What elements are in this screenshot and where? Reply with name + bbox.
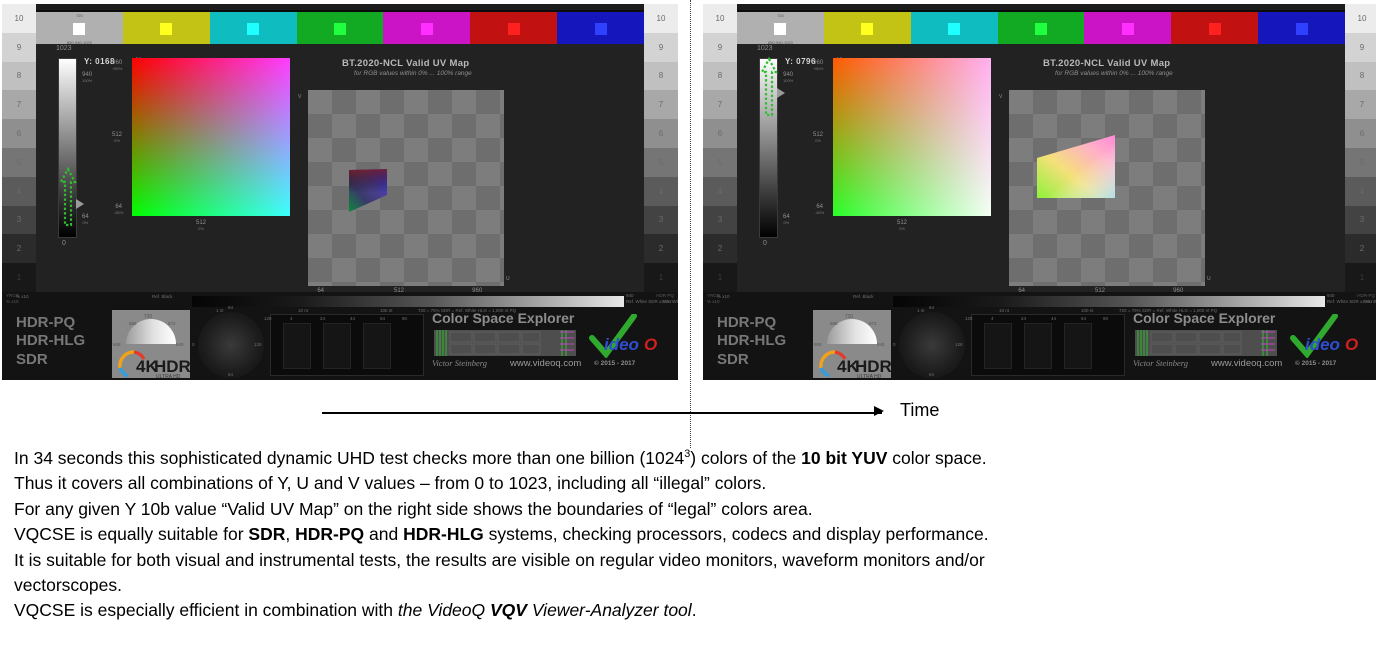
side-ramp-step: 5 [1345, 148, 1376, 177]
waveform-bar [283, 323, 311, 369]
line7-part-a: VQCSE is especially efficient in combina… [14, 600, 398, 620]
side-ramp-label: 8 [1360, 71, 1364, 80]
color-bar-patch [247, 23, 259, 35]
side-ramp-step: 4 [703, 177, 737, 206]
paragraph-line-5: It is suitable for both visual and instr… [14, 548, 1362, 573]
side-ramp-step: 6 [2, 119, 36, 148]
side-ramp-step: 10 [644, 4, 678, 33]
line7-bold-italic-vqv: VQV [490, 600, 527, 620]
side-ramp-step: 4 [1345, 177, 1376, 206]
nit-tick-100: 100 nt [1081, 308, 1094, 313]
color-bar-yellow [824, 12, 911, 46]
uv-plane-left [132, 58, 290, 216]
color-bar-green [998, 12, 1085, 46]
y-ramp-tick: 940100% [82, 72, 92, 83]
uv-map-v-letter: V [999, 94, 1002, 100]
nit-tick-10: 10 nt [298, 308, 308, 313]
slide-root: 10 9 8 7 6 5 4 3 2 1 10 9 8 7 6 5 4 3 2 … [0, 0, 1376, 660]
line7-period: . [692, 600, 697, 620]
waveform-tick: 44 [350, 316, 355, 321]
vectorscope-tick-right: 128 [254, 342, 262, 347]
ref-white-value: 940 [1327, 293, 1335, 298]
side-ramp-label: 5 [17, 158, 21, 167]
side-ramp-label: 10 [716, 14, 725, 23]
side-ramp-step: 6 [1345, 119, 1376, 148]
side-ramp-label: 9 [1360, 43, 1364, 52]
side-ramp-label: 8 [718, 71, 722, 80]
side-ramp-label: 3 [17, 215, 21, 224]
side-ramp-step: 3 [1345, 206, 1376, 235]
tick-pct: 0% [196, 226, 206, 231]
svg-text:872: 872 [869, 321, 877, 326]
svg-text:508: 508 [113, 342, 121, 347]
side-ramp-label: 4 [659, 187, 663, 196]
side-ramp-step: 9 [1345, 33, 1376, 62]
hdr-mode-sdr: SDR [717, 351, 786, 369]
uv-v-tick: 960+80% [112, 60, 122, 71]
vectorscope-tick-bottom: 64 [929, 372, 934, 377]
color-bar-patch [508, 23, 520, 35]
side-ramp-label: 9 [17, 43, 21, 52]
corner-label-yrgb: YRGB [6, 293, 19, 298]
side-ramp-step: 2 [703, 234, 737, 263]
svg-text:ULTRA HD: ULTRA HD [156, 374, 181, 378]
cse-website-link[interactable]: www.videoq.com [510, 358, 581, 369]
side-ramp-label: 1 [1360, 273, 1364, 282]
color-bar-patch [1035, 23, 1047, 35]
side-ramp-step: 8 [2, 62, 36, 91]
waveform-tick: 80 [402, 316, 407, 321]
hdr-mode-list: HDR-PQ HDR-HLG SDR [16, 314, 85, 369]
cse-grid-svg [1135, 330, 1277, 356]
cse-website-link[interactable]: www.videoq.com [1211, 358, 1282, 369]
side-ramp-label: 3 [1360, 215, 1364, 224]
4k-hdr-logo-panel: 720 566 872 508 940 4K HDR ULTRA HD [112, 310, 190, 378]
side-ramp-step: 8 [703, 62, 737, 91]
waveform-tick: 64 [1081, 316, 1086, 321]
line4-and: and [364, 524, 403, 544]
waveform-monitor-display [971, 314, 1125, 376]
svg-text:940: 940 [877, 342, 885, 347]
side-ramp-label: 4 [1360, 187, 1364, 196]
color-bar-patch [1209, 23, 1221, 35]
color-bar-patch [334, 23, 346, 35]
color-bar-green [297, 12, 384, 46]
y-ramp-min-label: 0 [62, 240, 66, 247]
side-ramp-label: 10 [657, 14, 666, 23]
uv-map-u-letter: U [506, 276, 510, 282]
color-bar-top-label: 720 [777, 13, 784, 18]
paragraph-line-4: VQCSE is equally suitable for SDR, HDR-P… [14, 522, 1362, 547]
line1-part-b: ) colors of the [690, 448, 801, 468]
side-ramp-step: 8 [644, 62, 678, 91]
side-ramp-label: 1 [718, 273, 722, 282]
green-dotted-up-arrow-icon [759, 56, 779, 118]
svg-text:940: 940 [176, 342, 184, 347]
vectorscope-tick-left: 0 [893, 342, 896, 347]
vectorscope-tick-left: 0 [192, 342, 195, 347]
grayscale-side-ramp-left: 10 9 8 7 6 5 4 3 2 1 [2, 4, 36, 292]
frame-separator-dashed-line [690, 0, 691, 448]
color-bar-cyan [210, 12, 297, 46]
y-ramp-max-label: 1023 [56, 45, 72, 52]
vectorscope-tick-top: 64 [929, 305, 934, 310]
grayscale-side-ramp-right: 10 9 8 7 6 5 4 3 2 1 [1345, 4, 1376, 292]
side-ramp-step: 5 [2, 148, 36, 177]
side-ramp-label: 6 [1360, 129, 1364, 138]
side-ramp-step: 3 [644, 206, 678, 235]
uv-v-tick: 64-80% [815, 204, 824, 215]
ref-black-label: Ref. Black [152, 294, 173, 299]
color-bar-patch [1296, 23, 1308, 35]
copyright-notice: © 2015 - 2017 [1295, 360, 1336, 367]
uv-u-tick: 5120% [897, 220, 907, 231]
side-ramp-label: 8 [659, 71, 663, 80]
color-bar-red [470, 12, 557, 46]
side-ramp-step: 10 [1345, 4, 1376, 33]
side-ramp-step: 7 [1345, 90, 1376, 119]
uv-v-tick: 5120% [112, 132, 122, 143]
waveform-tick: 4 [290, 316, 293, 321]
side-ramp-step: 10 [703, 4, 737, 33]
y-ramp-tick: 940100% [783, 72, 793, 83]
line4-part-a: VQCSE is equally suitable for [14, 524, 248, 544]
videoq-checkmark-icon: ideo O [1289, 314, 1369, 358]
color-space-explorer-title: Color Space Explorer [432, 310, 574, 326]
paragraph-line-6: vectorscopes. [14, 573, 1362, 598]
hdr-mode-hlg: HDR-HLG [717, 332, 786, 350]
color-bar-yellow [123, 12, 210, 46]
side-ramp-step: 3 [2, 206, 36, 235]
side-ramp-label: 9 [659, 43, 663, 52]
side-ramp-label: 10 [1358, 14, 1367, 23]
color-bar-patch [948, 23, 960, 35]
corner-label-percent: % x10 [707, 299, 720, 304]
side-ramp-label: 3 [659, 215, 663, 224]
tick-pct: 0% [112, 138, 122, 143]
valid-gamut-polygon-left [308, 90, 504, 286]
y-value-readout: Y: 0168 [84, 57, 115, 66]
color-bar-cyan [911, 12, 998, 46]
side-ramp-step: 2 [2, 234, 36, 263]
color-bar-blue [557, 12, 644, 46]
line1-part-c: color space. [887, 448, 986, 468]
valid-uv-map-checkerboard-right [1009, 90, 1205, 286]
waveform-tick: 44 [1051, 316, 1056, 321]
color-bar-patch [160, 23, 172, 35]
paragraph-line-2: Thus it covers all combinations of Y, U … [14, 471, 1362, 496]
cse-grid-pattern [434, 330, 576, 356]
hdr-mode-hlg: HDR-HLG [16, 332, 85, 350]
pattern-field-left: 1023 0 Y: 0168 Y 940100% 640% 960+80% 51… [36, 44, 644, 292]
hdr-mode-pq: HDR-PQ [717, 314, 786, 332]
color-bar-white: 720 890-940-1020 [737, 12, 824, 46]
tick-pct: 0% [897, 226, 907, 231]
svg-text:ideo: ideo [604, 335, 639, 354]
videoq-logo: ideo O [588, 314, 668, 358]
color-bar-magenta [1084, 12, 1171, 46]
waveform-tick: 24 [1021, 316, 1026, 321]
side-ramp-label: 7 [1360, 100, 1364, 109]
tick-pct: 0% [783, 220, 790, 225]
nit-tick-10: 10 nt [999, 308, 1009, 313]
side-ramp-step: 1 [1345, 263, 1376, 292]
side-ramp-step: 4 [644, 177, 678, 206]
tick-pct: 100% [82, 78, 92, 83]
cse-author: Victor Steinberg [1133, 358, 1188, 368]
svg-text:720: 720 [845, 314, 854, 320]
side-ramp-step: 2 [644, 234, 678, 263]
waveform-bar [363, 323, 391, 369]
time-axis-arrowhead-icon [874, 406, 884, 416]
corner-label-hdrpq: HDR-PQ [1357, 293, 1375, 298]
side-ramp-label: 7 [718, 100, 722, 109]
side-ramp-label: 8 [17, 71, 21, 80]
valid-uv-map-title: BT.2020-NCL Valid UV Map [1043, 58, 1170, 69]
nit-gradient-ramp [192, 296, 624, 307]
uv-v-tick: 960+80% [813, 60, 823, 71]
color-bar-patch [73, 23, 85, 35]
tick-pct: 100% [783, 78, 793, 83]
svg-text:O: O [644, 335, 657, 354]
nit-gradient-ramp [893, 296, 1325, 307]
side-ramp-label: 5 [718, 158, 722, 167]
half-dome-gauge-icon: 720 566 872 508 940 4K HDR ULTRA HD [813, 310, 891, 378]
color-bar-magenta [383, 12, 470, 46]
nit-tick-100: 100 nt [380, 308, 393, 313]
side-ramp-label: 3 [718, 215, 722, 224]
uv-map-v-letter: V [298, 94, 301, 100]
side-ramp-label: 9 [718, 43, 722, 52]
cse-author: Victor Steinberg [432, 358, 487, 368]
waveform-monitor-display [270, 314, 424, 376]
line4-bold-hdrhlg: HDR-HLG [403, 524, 484, 544]
side-ramp-label: 1 [17, 273, 21, 282]
paragraph-line-1: In 34 seconds this sophisticated dynamic… [14, 446, 1362, 471]
valid-uv-map-subtitle: for RGB values within 0% ... 100% range [354, 70, 472, 77]
side-ramp-label: 6 [659, 129, 663, 138]
corner-label-yrgb: YRGB [707, 293, 720, 298]
side-ramp-step: 6 [644, 119, 678, 148]
side-ramp-label: 6 [718, 129, 722, 138]
svg-text:566: 566 [129, 321, 137, 326]
grayscale-side-ramp-right: 10 9 8 7 6 5 4 3 2 1 [644, 4, 678, 292]
svg-text:ULTRA HD: ULTRA HD [857, 374, 882, 378]
color-bars: 720 890-940-1020 [36, 10, 644, 46]
vectorscope-tick-right: 128 [955, 342, 963, 347]
tick-pct: -80% [815, 210, 824, 215]
svg-text:ideo: ideo [1305, 335, 1340, 354]
y-ramp-max-label: 1023 [757, 45, 773, 52]
side-ramp-step: 10 [2, 4, 36, 33]
side-ramp-step: 5 [644, 148, 678, 177]
y-ramp-min-label: 0 [763, 240, 767, 247]
side-ramp-step: 9 [703, 33, 737, 62]
side-ramp-step: 1 [2, 263, 36, 292]
line7-italic-tool: Viewer-Analyzer tool [527, 600, 692, 620]
corner-label-hdrpq: HDR-PQ [656, 293, 674, 298]
y-value-readout: Y: 0796 [785, 57, 816, 66]
side-ramp-step: 2 [1345, 234, 1376, 263]
valid-uv-map-checkerboard-left [308, 90, 504, 286]
pattern-field-right: 1023 0 Y: 0796 Y 940100% 640% 960+80% 51… [737, 44, 1345, 292]
waveform-tick: 4 [991, 316, 994, 321]
svg-text:508: 508 [814, 342, 822, 347]
hdr-mode-list: HDR-PQ HDR-HLG SDR [717, 314, 786, 369]
videoq-logo: ideo O [1289, 314, 1369, 358]
side-ramp-step: 1 [703, 263, 737, 292]
waveform-tick: 80 [1103, 316, 1108, 321]
color-bar-patch [595, 23, 607, 35]
valid-uv-map-title: BT.2020-NCL Valid UV Map [342, 58, 469, 69]
side-ramp-label: 2 [659, 244, 663, 253]
uv-v-tick: 64-80% [114, 204, 123, 215]
side-ramp-step: 9 [2, 33, 36, 62]
side-ramp-step: 7 [2, 90, 36, 119]
side-ramp-step: 7 [703, 90, 737, 119]
color-bar-patch [861, 23, 873, 35]
side-ramp-label: 6 [17, 129, 21, 138]
vectorscope-tick-top: 64 [228, 305, 233, 310]
line1-part-a: In 34 seconds this sophisticated dynamic… [14, 448, 684, 468]
waveform-bar [323, 323, 351, 369]
side-ramp-label: 1 [659, 273, 663, 282]
side-ramp-step: 9 [644, 33, 678, 62]
color-space-explorer-title: Color Space Explorer [1133, 310, 1275, 326]
side-ramp-label: 2 [17, 244, 21, 253]
test-pattern-frame-left: 10 9 8 7 6 5 4 3 2 1 10 9 8 7 6 5 4 3 2 … [2, 4, 678, 380]
side-ramp-step: 7 [644, 90, 678, 119]
bottom-info-strip-right: % x10 Ref. Black 940 Ref. White SDR = Ma… [703, 292, 1376, 380]
4k-hdr-logo-panel: 720 566 872 508 940 4K HDR ULTRA HD [813, 310, 891, 378]
side-ramp-label: 7 [17, 100, 21, 109]
side-ramp-label: 7 [659, 100, 663, 109]
side-ramp-step: 3 [703, 206, 737, 235]
paragraph-line-3: For any given Y 10b value “Valid UV Map”… [14, 497, 1362, 522]
color-bars: 720 890-940-1020 [737, 10, 1345, 46]
uv-plane-right [833, 58, 991, 216]
cse-grid-svg [434, 330, 576, 356]
grayscale-side-ramp-left: 10 9 8 7 6 5 4 3 2 1 [703, 4, 737, 292]
time-axis-label: Time [900, 400, 939, 421]
line4-part-d: systems, checking processors, codecs and… [484, 524, 989, 544]
line4-bold-sdr: SDR [248, 524, 285, 544]
cse-grid-pattern [1135, 330, 1277, 356]
hdr-mode-pq: HDR-PQ [16, 314, 85, 332]
svg-text:872: 872 [168, 321, 176, 326]
side-ramp-label: 4 [17, 187, 21, 196]
svg-text:566: 566 [830, 321, 838, 326]
color-bar-blue [1258, 12, 1345, 46]
side-ramp-step: 8 [1345, 62, 1376, 91]
color-bar-red [1171, 12, 1258, 46]
vectorscope-tick-bottom: 64 [228, 372, 233, 377]
svg-text:720: 720 [144, 314, 153, 320]
side-ramp-label: 2 [718, 244, 722, 253]
side-ramp-step: 1 [644, 263, 678, 292]
test-pattern-frame-right: 10 9 8 7 6 5 4 3 2 1 10 9 8 7 6 5 4 3 2 … [703, 4, 1376, 380]
uv-map-u-letter: U [1207, 276, 1211, 282]
side-ramp-label: 2 [1360, 244, 1364, 253]
description-paragraph: In 34 seconds this sophisticated dynamic… [14, 446, 1362, 624]
tick-pct: 0% [82, 220, 89, 225]
line1-bold-yuv: 10 bit YUV [801, 448, 887, 468]
ref-black-label: Ref. Black [853, 294, 874, 299]
half-dome-gauge-icon: 720 566 872 508 940 4K HDR ULTRA HD [112, 310, 190, 378]
y-ramp-tick: 640% [783, 214, 790, 225]
color-bar-patch [774, 23, 786, 35]
valid-uv-map-subtitle: for RGB values within 0% ... 100% range [1055, 70, 1173, 77]
uv-v-tick: 5120% [813, 132, 823, 143]
bottom-info-strip-left: % x10 Ref. Black 940 Ref. White SDR = Ma… [2, 292, 678, 380]
color-bar-top-label: 720 [76, 13, 83, 18]
side-ramp-step: 4 [2, 177, 36, 206]
tick-pct: 0% [813, 138, 823, 143]
tick-pct: -80% [114, 210, 123, 215]
line4-comma: , [285, 524, 295, 544]
waveform-bar [984, 323, 1012, 369]
side-ramp-label: 5 [1360, 158, 1364, 167]
waveform-tick: 24 [320, 316, 325, 321]
color-bar-patch [1122, 23, 1134, 35]
svg-text:O: O [1345, 335, 1358, 354]
paragraph-line-7: VQCSE is especially efficient in combina… [14, 598, 1362, 623]
uv-u-tick: 5120% [196, 220, 206, 231]
green-dotted-up-arrow-icon [58, 166, 78, 228]
waveform-tick: 128 [264, 316, 272, 321]
side-ramp-step: 5 [703, 148, 737, 177]
corner-label-percent: % x10 [6, 299, 19, 304]
corner-label-nits: x100 nt [1360, 299, 1375, 304]
waveform-tick: 128 [965, 316, 973, 321]
side-ramp-label: 4 [718, 187, 722, 196]
side-ramp-label: 10 [15, 14, 24, 23]
side-ramp-step: 6 [703, 119, 737, 148]
color-bar-patch [421, 23, 433, 35]
waveform-tick: 64 [380, 316, 385, 321]
hdr-mode-sdr: SDR [16, 351, 85, 369]
time-axis-line [322, 412, 882, 414]
waveform-bar [1064, 323, 1092, 369]
line4-bold-hdrpq: HDR-PQ [295, 524, 364, 544]
tick-pct: +80% [813, 66, 823, 71]
side-ramp-label: 5 [659, 158, 663, 167]
valid-gamut-polygon-right [1009, 90, 1205, 286]
ref-white-value: 940 [626, 293, 634, 298]
line7-italic-videoq: the VideoQ [398, 600, 490, 620]
copyright-notice: © 2015 - 2017 [594, 360, 635, 367]
y-ramp-tick: 640% [82, 214, 89, 225]
videoq-checkmark-icon: ideo O [588, 314, 668, 358]
tick-pct: +80% [112, 66, 122, 71]
waveform-bar [1024, 323, 1052, 369]
color-bar-white: 720 890-940-1020 [36, 12, 123, 46]
corner-label-nits: x100 nt [659, 299, 674, 304]
